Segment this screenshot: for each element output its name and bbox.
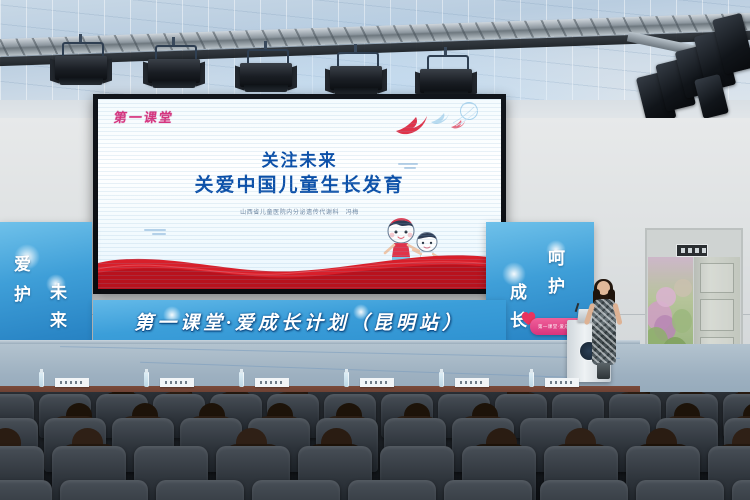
- board-left-char: 护: [14, 280, 31, 305]
- name-card: [545, 378, 579, 387]
- door-panel: [700, 299, 734, 331]
- audience-seat[interactable]: [0, 480, 52, 500]
- decorative-swirl-icon: [448, 101, 488, 127]
- slide-title-line2: 关爱中国儿童生长发育: [98, 173, 501, 197]
- audience-seat[interactable]: [348, 480, 436, 500]
- bird-red-icon: [394, 113, 428, 135]
- water-bottle: [344, 372, 349, 387]
- name-card: [455, 378, 489, 387]
- exit-sign: [676, 244, 708, 257]
- name-card: [55, 378, 89, 387]
- board-right-char: 成: [510, 278, 527, 303]
- cloud-mark: [144, 229, 166, 231]
- cloud-mark: [398, 163, 418, 165]
- audience-seat[interactable]: [732, 480, 750, 500]
- bird-blue-icon: [430, 111, 450, 125]
- auditorium-scene: 第一课堂 关注未来 关爱中国儿童生长发育: [0, 0, 750, 500]
- water-bottle: [144, 372, 149, 387]
- board-right-char: 护: [548, 272, 565, 297]
- slide-title: 关注未来 关爱中国儿童生长发育: [98, 151, 501, 197]
- board-left-char: 未: [50, 278, 67, 303]
- board-left-char: 爱: [14, 250, 31, 275]
- audience-seat[interactable]: [60, 480, 148, 500]
- stage-front-banner: 第一课堂·爱成长计划（昆明站）: [93, 300, 506, 342]
- board-left-char: 来: [50, 306, 67, 331]
- slide-logo: 第一课堂: [113, 107, 176, 126]
- audience-seat[interactable]: [252, 480, 340, 500]
- name-card: [255, 378, 289, 387]
- name-card: [160, 378, 194, 387]
- banner-text: 第一课堂·爱成长计划（昆明站）: [93, 300, 506, 342]
- red-ribbon-graphic: [98, 241, 501, 289]
- water-bottle: [439, 372, 444, 387]
- door-panel: [700, 263, 734, 293]
- board-right-char: 呵: [548, 244, 565, 269]
- floor-line: [140, 362, 610, 379]
- cloud-mark: [152, 233, 166, 235]
- seated-audience: [0, 392, 750, 500]
- floor-line: [60, 346, 620, 359]
- audience-seat[interactable]: [156, 480, 244, 500]
- presenter: [588, 281, 620, 381]
- audience-seat[interactable]: [444, 480, 532, 500]
- cloud-mark: [404, 167, 416, 169]
- water-bottle: [39, 372, 44, 387]
- water-bottle: [529, 372, 534, 387]
- presenter-lower-body: [597, 363, 610, 379]
- name-card: [360, 378, 394, 387]
- presenter-dress: [592, 299, 616, 365]
- foliage-blob: [674, 279, 692, 297]
- audience-seat[interactable]: [540, 480, 628, 500]
- led-presentation-screen[interactable]: 第一课堂 关注未来 关爱中国儿童生长发育: [98, 99, 501, 289]
- water-bottle: [239, 372, 244, 387]
- audience-seat[interactable]: [636, 480, 724, 500]
- foliage-blob: [672, 309, 692, 333]
- slide-title-line1: 关注未来: [98, 151, 501, 173]
- foliage-blob: [656, 287, 676, 307]
- dress-pattern: [592, 299, 616, 365]
